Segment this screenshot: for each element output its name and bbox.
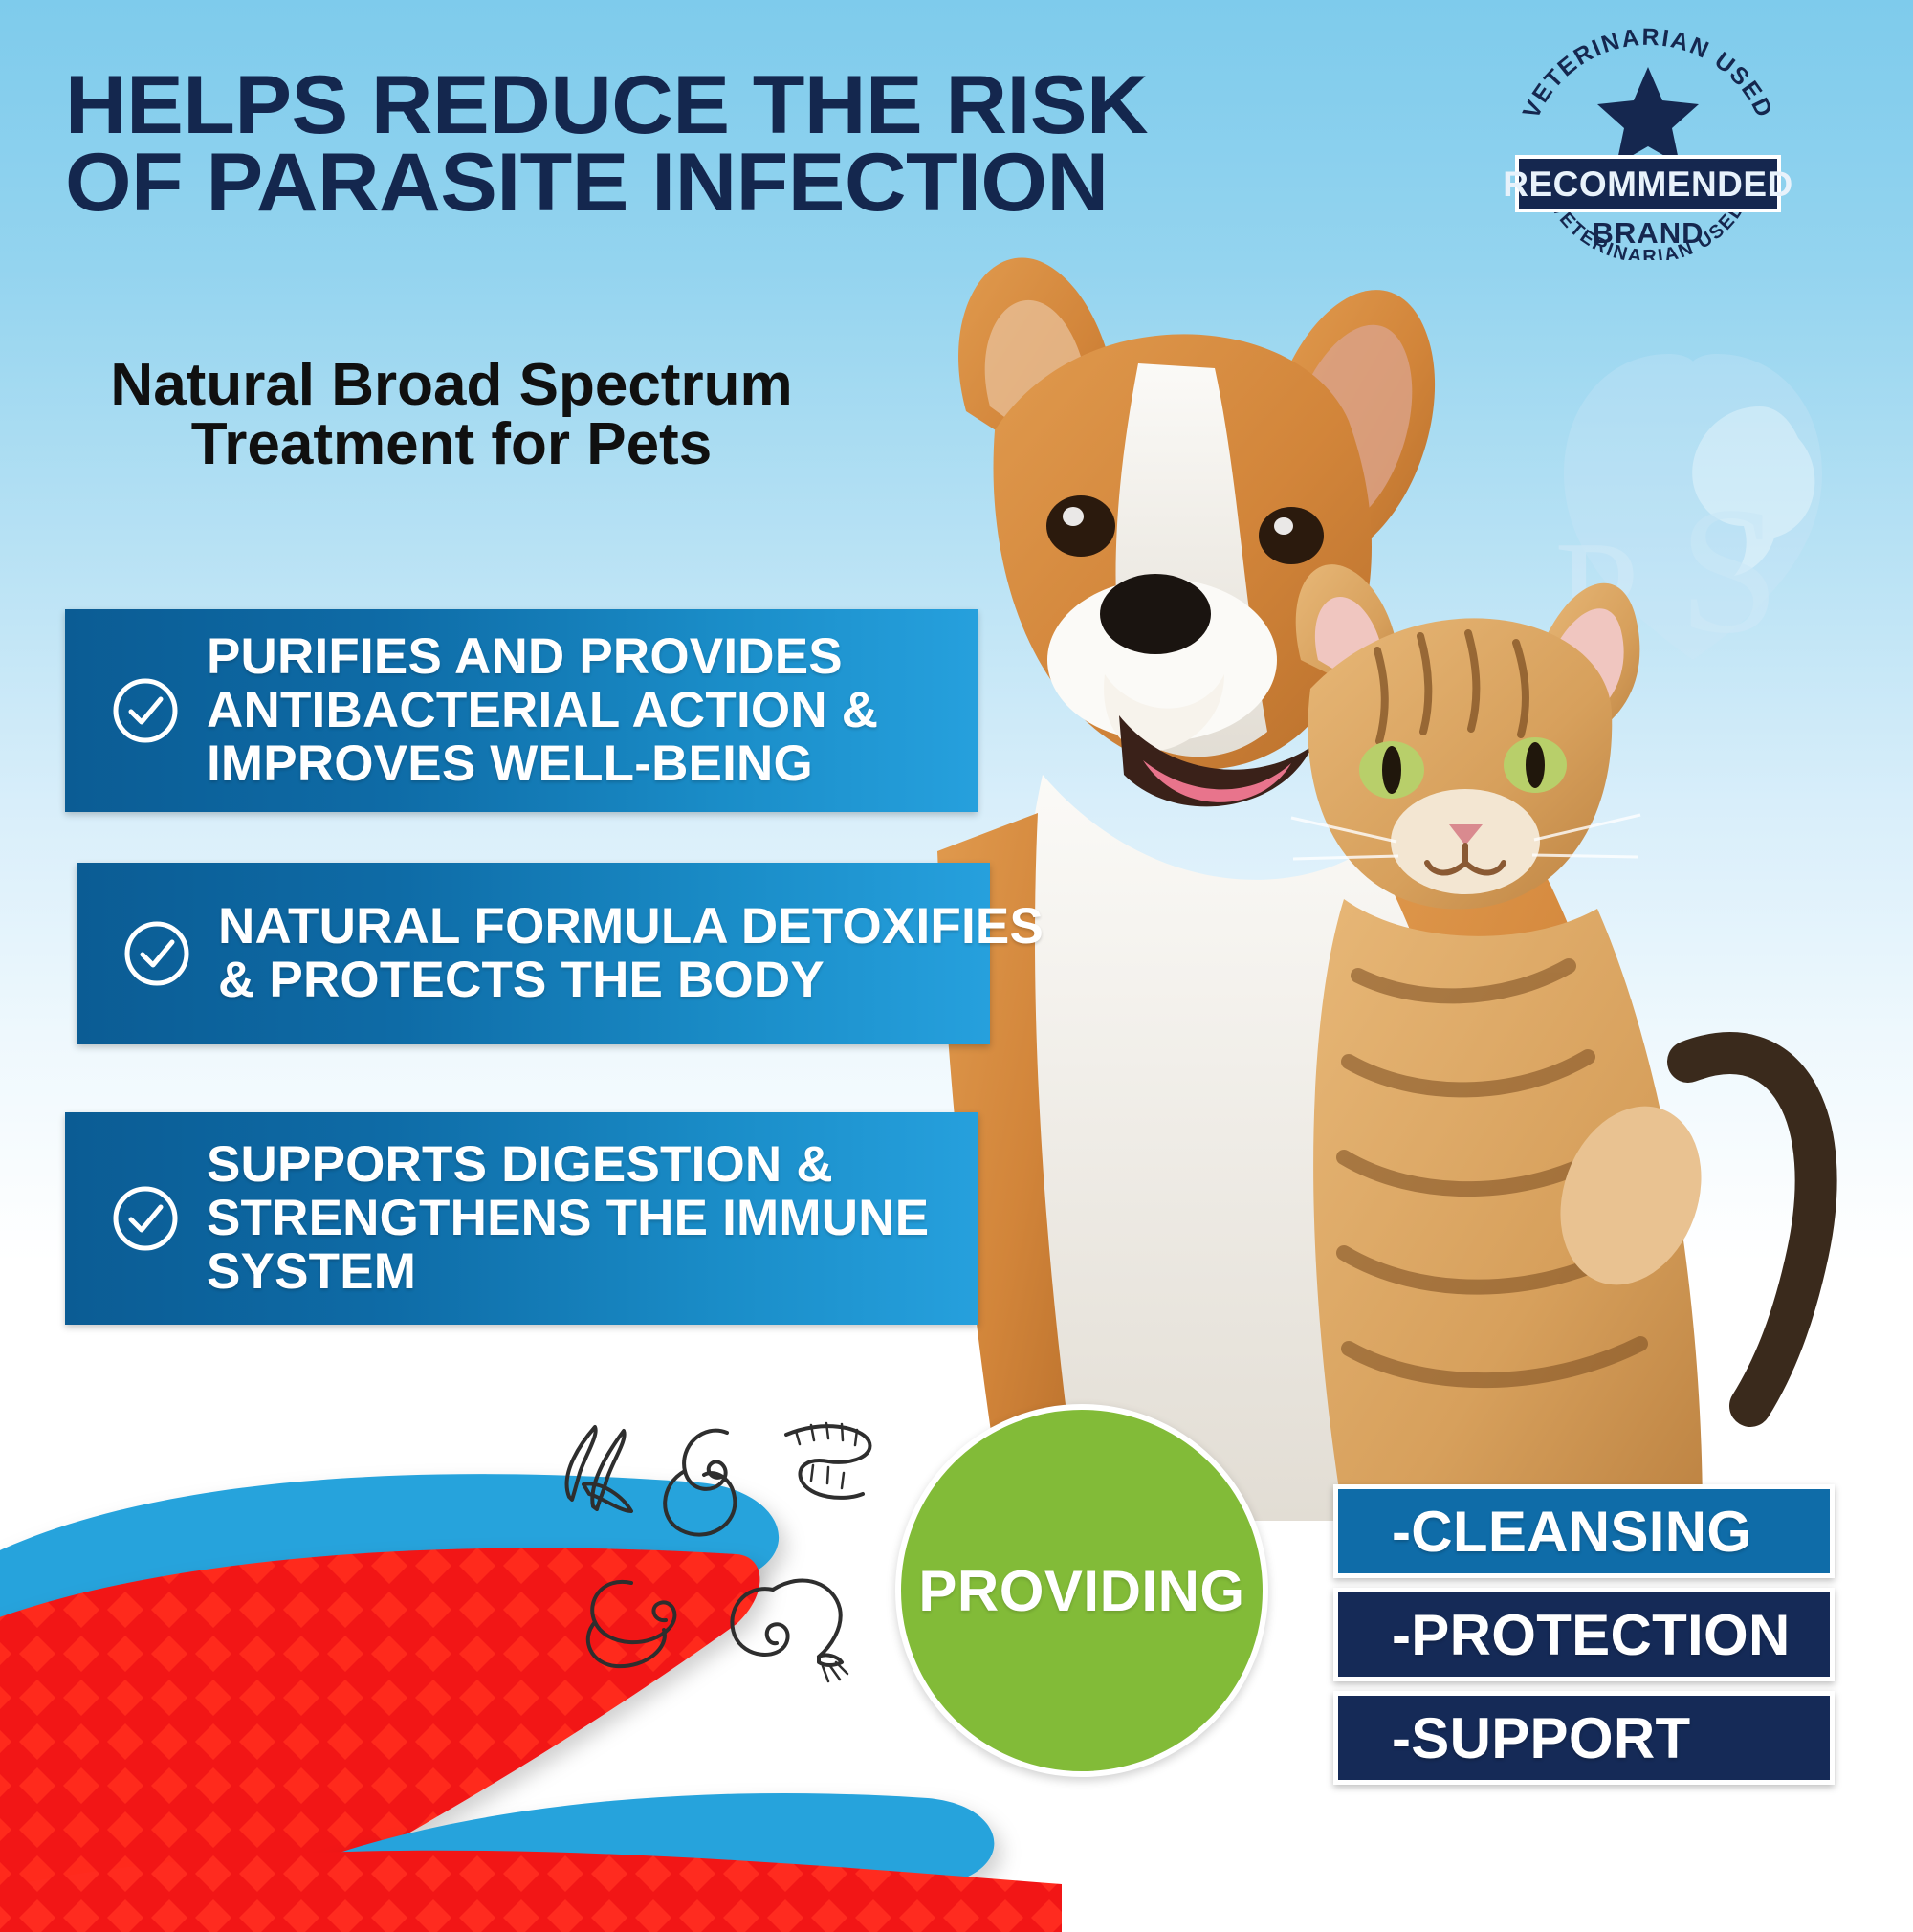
benefit-text-3: SUPPORTS DIGESTION & STRENGTHENS THE IMM… [207,1138,929,1300]
subtitle-line-2: Treatment for Pets [69,415,834,474]
providing-label: PROVIDING [918,1558,1244,1624]
parasite-hookworm-icon [588,1582,675,1666]
benefit-bar-1: PURIFIES AND PROVIDES ANTIBACTERIAL ACTI… [65,609,978,812]
benefit-bar-2: NATURAL FORMULA DETOXIFIES & PROTECTS TH… [77,863,990,1044]
star-icon [1597,67,1699,165]
benefit-3-line-3: SYSTEM [207,1245,929,1299]
outcome-label-2: -SUPPORT [1338,1705,1690,1771]
parasite-roundworm-icon [665,1431,735,1535]
benefit-1-line-3: IMPROVES WELL-BEING [207,737,878,791]
outcome-label-0: -CLEANSING [1338,1499,1751,1565]
subtitle: Natural Broad Spectrum Treatment for Pet… [69,356,834,474]
outcome-label-1: -PROTECTION [1338,1602,1791,1668]
dog-and-cat-photo [937,239,1913,1521]
parasite-tapeworm-icon [786,1423,869,1498]
veterinarian-recommended-badge: VETERINARIAN USED VETERINARIAN USED RECO… [1500,21,1796,260]
check-circle-icon [111,1184,180,1253]
benefit-2-line-1: NATURAL FORMULA DETOXIFIES [218,900,1044,954]
parasite-worm-icon [567,1427,631,1511]
badge-banner-text: RECOMMENDED [1503,165,1793,204]
check-circle-icon [122,919,191,988]
benefit-3-line-2: STRENGTHENS THE IMMUNE [207,1192,929,1245]
page-title: HELPS REDUCE THE RISK OF PARASITE INFECT… [65,67,1119,222]
parasite-illustrations [536,1406,937,1731]
subtitle-line-1: Natural Broad Spectrum [69,356,834,415]
benefit-text-1: PURIFIES AND PROVIDES ANTIBACTERIAL ACTI… [207,630,878,792]
benefit-3-line-1: SUPPORTS DIGESTION & [207,1138,929,1192]
benefit-1-line-2: ANTIBACTERIAL ACTION & [207,684,878,737]
headline-line-2: OF PARASITE INFECTION [65,144,1119,222]
outcome-support: -SUPPORT [1333,1691,1835,1785]
benefit-text-2: NATURAL FORMULA DETOXIFIES & PROTECTS TH… [218,900,1044,1007]
providing-badge: PROVIDING [895,1404,1268,1777]
benefit-bar-3: SUPPORTS DIGESTION & STRENGTHENS THE IMM… [65,1112,978,1325]
outcome-protection: -PROTECTION [1333,1588,1835,1681]
benefit-2-line-2: & PROTECTS THE BODY [218,954,1044,1007]
outcome-cleansing: -CLEANSING [1333,1484,1835,1578]
cat-figure [1291,564,1816,1521]
check-circle-icon [111,676,180,745]
parasite-whipworm-icon [732,1581,847,1681]
headline-line-1: HELPS REDUCE THE RISK [65,67,1119,144]
benefit-1-line-1: PURIFIES AND PROVIDES [207,630,878,684]
